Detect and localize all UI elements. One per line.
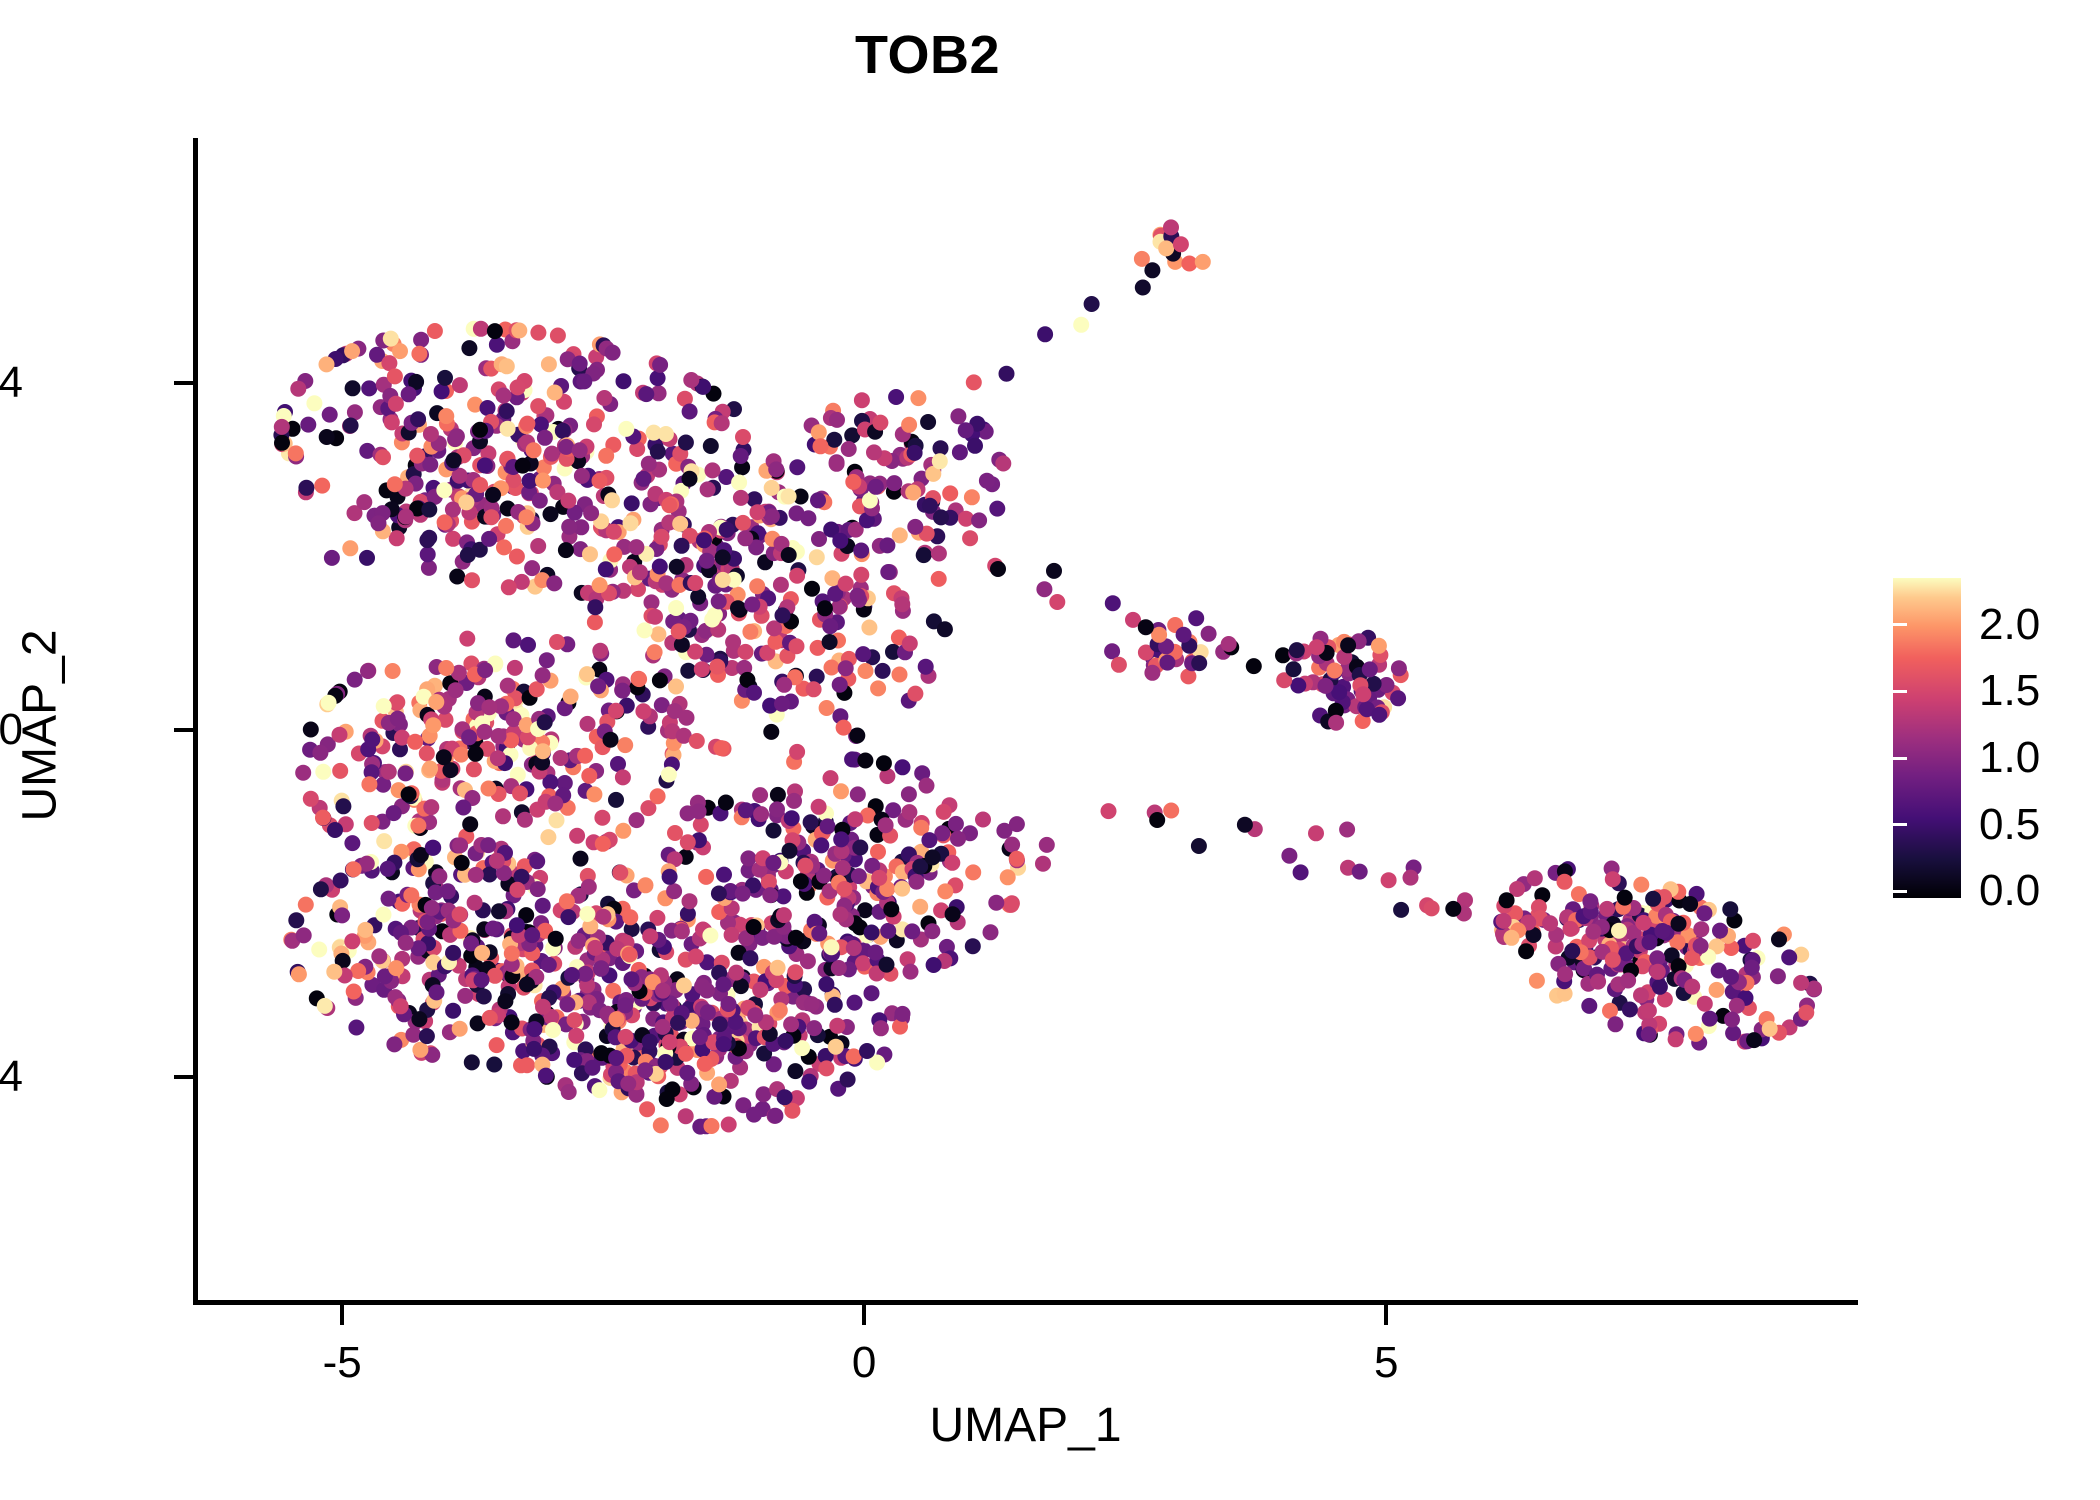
scatter-point <box>1188 610 1204 626</box>
scatter-point <box>1004 837 1020 853</box>
scatter-point <box>519 416 535 432</box>
scatter-point <box>580 716 596 732</box>
scatter-point <box>622 947 638 963</box>
scatter-point <box>862 493 878 509</box>
scatter-point <box>1391 660 1407 676</box>
scatter-point <box>583 505 599 521</box>
scatter-point <box>932 453 948 469</box>
scatter-point <box>558 439 574 455</box>
scatter-point <box>679 1065 695 1081</box>
scatter-point <box>326 964 342 980</box>
scatter-point <box>1286 661 1302 677</box>
scatter-point <box>1191 655 1207 671</box>
scatter-point <box>690 589 706 605</box>
scatter-point <box>737 530 753 546</box>
scatter-point <box>376 907 392 923</box>
scatter-point <box>359 550 375 566</box>
scatter-point <box>832 677 848 693</box>
scatter-point <box>618 1029 634 1045</box>
scatter-point <box>438 408 454 424</box>
scatter-point <box>1101 803 1117 819</box>
scatter-point <box>1744 960 1760 976</box>
scatter-point <box>364 815 380 831</box>
scatter-point <box>389 530 405 546</box>
scatter-point <box>1352 864 1368 880</box>
scatter-point <box>609 1011 625 1027</box>
scatter-point <box>920 414 936 430</box>
scatter-point <box>606 524 622 540</box>
scatter-point <box>828 1039 844 1055</box>
scatter-point <box>482 867 498 883</box>
scatter-point <box>1504 930 1520 946</box>
scatter-point <box>361 776 377 792</box>
scatter-point <box>836 720 852 736</box>
scatter-point <box>691 803 707 819</box>
scatter-point <box>495 808 511 824</box>
scatter-point <box>474 945 490 961</box>
scatter-point <box>559 996 575 1012</box>
scatter-point <box>380 861 396 877</box>
scatter-point <box>642 1034 658 1050</box>
scatter-point <box>632 564 648 580</box>
scatter-point <box>376 833 392 849</box>
scatter-point <box>907 445 923 461</box>
scatter-point <box>526 1041 542 1057</box>
scatter-point <box>905 485 921 501</box>
scatter-point <box>519 509 535 525</box>
scatter-point <box>1499 892 1515 908</box>
scatter-point <box>346 984 362 1000</box>
scatter-point <box>429 984 445 1000</box>
scatter-point <box>813 837 829 853</box>
scatter-point <box>859 1043 875 1059</box>
scatter-point <box>303 722 319 738</box>
scatter-point <box>662 1034 678 1050</box>
scatter-point <box>642 928 658 944</box>
scatter-point <box>572 442 588 458</box>
scatter-point <box>390 711 406 727</box>
scatter-point <box>445 1003 461 1019</box>
scatter-point <box>385 663 401 679</box>
scatter-point <box>858 663 874 679</box>
scatter-point <box>901 786 917 802</box>
scatter-point <box>638 877 654 893</box>
scatter-point <box>485 921 501 937</box>
scatter-point <box>786 793 802 809</box>
scatter-point <box>1390 690 1406 706</box>
scatter-point <box>504 1014 520 1030</box>
scatter-point <box>519 976 535 992</box>
scatter-point <box>945 906 961 922</box>
scatter-point <box>776 677 792 693</box>
scatter-point <box>558 542 574 558</box>
scatter-point <box>497 993 513 1009</box>
scatter-point <box>509 549 525 565</box>
scatter-point <box>735 515 751 531</box>
scatter-point <box>561 1084 577 1100</box>
scatter-point <box>864 985 880 1001</box>
scatter-point <box>774 696 790 712</box>
scatter-point <box>1712 923 1728 939</box>
scatter-point <box>473 321 489 337</box>
scatter-point <box>405 1027 421 1043</box>
scatter-point <box>541 356 557 372</box>
scatter-point <box>709 659 725 675</box>
scatter-point <box>306 395 322 411</box>
scatter-point <box>853 567 869 583</box>
scatter-point <box>1331 684 1347 700</box>
scatter-point <box>647 644 663 660</box>
scatter-point <box>298 897 314 913</box>
scatter-point <box>894 881 910 897</box>
scatter-point <box>811 799 827 815</box>
scatter-point <box>789 638 805 654</box>
scatter-point <box>592 643 608 659</box>
scatter-point <box>481 699 497 715</box>
scatter-point <box>652 672 668 688</box>
scatter-point <box>1518 943 1534 959</box>
scatter-point <box>445 531 461 547</box>
scatter-point <box>590 678 606 694</box>
scatter-point <box>487 968 503 984</box>
scatter-point <box>577 748 593 764</box>
scatter-point <box>624 495 640 511</box>
scatter-point <box>603 732 619 748</box>
scatter-point <box>452 377 468 393</box>
scatter-point <box>1641 1026 1657 1042</box>
scatter-point <box>1585 924 1601 940</box>
scatter-point <box>687 575 703 591</box>
scatter-point <box>753 806 769 822</box>
scatter-point <box>788 930 804 946</box>
scatter-point <box>721 996 737 1012</box>
scatter-point <box>679 710 695 726</box>
scatter-point <box>1611 923 1627 939</box>
scatter-point <box>746 919 762 935</box>
scatter-point <box>481 531 497 547</box>
scatter-point <box>595 909 611 925</box>
scatter-point <box>1693 921 1709 937</box>
scatter-point <box>517 812 533 828</box>
scatter-point <box>872 415 888 431</box>
scatter-point <box>489 1037 505 1053</box>
scatter-point <box>1654 923 1670 939</box>
scatter-point <box>564 967 580 983</box>
scatter-point <box>477 662 493 678</box>
x-axis-title: UMAP_1 <box>193 1398 1858 1453</box>
scatter-point <box>496 388 512 404</box>
scatter-point <box>903 964 919 980</box>
scatter-point <box>964 489 980 505</box>
scatter-point <box>581 879 597 895</box>
scatter-point <box>344 933 360 949</box>
scatter-point <box>423 426 439 442</box>
scatter-point <box>712 1016 728 1032</box>
scatter-point <box>711 593 727 609</box>
scatter-point <box>990 561 1006 577</box>
scatter-point <box>587 614 603 630</box>
scatter-point <box>464 1054 480 1070</box>
scatter-point <box>682 893 698 909</box>
scatter-point <box>840 1072 856 1088</box>
x-tick-label: -5 <box>272 1338 412 1388</box>
scatter-point <box>647 609 663 625</box>
scatter-point <box>711 1076 727 1092</box>
scatter-point <box>1671 916 1687 932</box>
scatter-point <box>436 749 452 765</box>
scatter-point <box>544 446 560 462</box>
scatter-point <box>773 577 789 593</box>
scatter-point <box>371 948 387 964</box>
scatter-point <box>735 429 751 445</box>
scatter-point <box>423 799 439 815</box>
scatter-point <box>698 869 714 885</box>
scatter-point <box>303 791 319 807</box>
scatter-point <box>345 380 361 396</box>
scatter-point <box>942 485 958 501</box>
scatter-point <box>688 949 704 965</box>
scatter-point <box>1049 594 1065 610</box>
scatter-point <box>682 471 698 487</box>
scatter-point <box>327 822 343 838</box>
scatter-point <box>1729 998 1745 1014</box>
scatter-point <box>1035 856 1051 872</box>
scatter-point <box>620 1076 636 1092</box>
scatter-point <box>711 886 727 902</box>
scatter-point <box>1581 998 1597 1014</box>
scatter-point <box>347 672 363 688</box>
scatter-point <box>592 577 608 593</box>
scatter-point <box>499 403 515 419</box>
scatter-point <box>524 927 540 943</box>
scatter-point <box>966 374 982 390</box>
scatter-point <box>628 539 644 555</box>
scatter-point <box>532 493 548 509</box>
y-tick-mark <box>174 1075 194 1079</box>
scatter-point <box>411 346 427 362</box>
plot-panel <box>196 140 1856 1302</box>
scatter-point <box>965 938 981 954</box>
scatter-point <box>1641 1003 1657 1019</box>
scatter-point <box>1039 837 1055 853</box>
scatter-point <box>1393 902 1409 918</box>
scatter-point <box>847 995 863 1011</box>
scatter-point <box>803 814 819 830</box>
scatter-point <box>1327 663 1343 679</box>
scatter-point <box>747 1007 763 1023</box>
scatter-point <box>746 685 762 701</box>
scatter-point <box>576 373 592 389</box>
scatter-point <box>867 945 883 961</box>
scatter-point <box>936 804 952 820</box>
scatter-point <box>510 379 526 395</box>
scatter-point <box>530 398 546 414</box>
scatter-point <box>666 883 682 899</box>
scatter-point <box>811 424 827 440</box>
scatter-point <box>481 781 497 797</box>
scatter-point <box>413 332 429 348</box>
scatter-point <box>1037 326 1053 342</box>
scatter-point <box>547 385 563 401</box>
scatter-point <box>857 753 873 769</box>
scatter-point <box>364 732 380 748</box>
scatter-point <box>655 983 671 999</box>
scatter-point <box>537 430 553 446</box>
colorbar-tick-label: 2.0 <box>1979 600 2089 650</box>
scatter-point <box>922 498 938 514</box>
scatter-point <box>699 553 715 569</box>
scatter-point <box>386 805 402 821</box>
scatter-point <box>296 927 312 943</box>
scatter-point <box>1371 707 1387 723</box>
scatter-point <box>638 386 654 402</box>
scatter-point <box>811 926 827 942</box>
scatter-point <box>335 798 351 814</box>
scatter-point <box>1564 943 1580 959</box>
scatter-point <box>921 832 937 848</box>
scatter-point <box>1073 317 1089 333</box>
colorbar-tick-mark <box>1893 890 1907 893</box>
scatter-point <box>567 1012 583 1028</box>
scatter-point <box>988 895 1004 911</box>
scatter-point <box>427 323 443 339</box>
scatter-point <box>295 765 311 781</box>
scatter-point <box>324 550 340 566</box>
scatter-point <box>472 477 488 493</box>
scatter-point <box>343 418 359 434</box>
scatter-point <box>313 881 329 897</box>
scatter-point <box>1682 896 1698 912</box>
scatter-point <box>530 881 546 897</box>
scatter-point <box>700 481 716 497</box>
scatter-point <box>975 812 991 828</box>
scatter-point <box>784 810 800 826</box>
scatter-point <box>499 358 515 374</box>
scatter-point <box>1722 901 1738 917</box>
scatter-point <box>749 578 765 594</box>
scatter-point <box>958 422 974 438</box>
scatter-point <box>838 576 854 592</box>
scatter-point <box>548 931 564 947</box>
scatter-point <box>831 960 847 976</box>
scatter-point <box>836 881 852 897</box>
scatter-point <box>1318 678 1334 694</box>
scatter-point <box>678 1108 694 1124</box>
scatter-point <box>1770 968 1786 984</box>
scatter-point <box>537 714 553 730</box>
scatter-point <box>438 660 454 676</box>
colorbar-tick-label: 1.5 <box>1979 666 2089 716</box>
scatter-point <box>477 458 493 474</box>
scatter-point <box>579 906 595 922</box>
scatter-point <box>715 549 731 565</box>
scatter-point <box>742 624 758 640</box>
scatter-point <box>476 989 492 1005</box>
scatter-point <box>892 667 908 683</box>
scatter-point <box>817 600 833 616</box>
scatter-point <box>598 448 614 464</box>
scatter-point <box>776 907 792 923</box>
scatter-point <box>819 700 835 716</box>
scatter-point <box>1163 803 1179 819</box>
scatter-point <box>539 652 555 668</box>
colorbar-tick-label: 0.0 <box>1979 866 2089 916</box>
scatter-point <box>765 855 781 871</box>
scatter-point <box>387 368 403 384</box>
scatter-point <box>314 478 330 494</box>
scatter-point <box>855 955 871 971</box>
scatter-point <box>716 977 732 993</box>
scatter-point <box>519 1057 535 1073</box>
scatter-point <box>1328 715 1344 731</box>
scatter-point <box>1355 686 1371 702</box>
scatter-point <box>1557 874 1573 890</box>
scatter-point <box>582 546 598 562</box>
scatter-point <box>850 786 866 802</box>
scatter-point <box>653 1117 669 1133</box>
scatter-point <box>1697 996 1713 1012</box>
scatter-point <box>1642 934 1658 950</box>
scatter-point <box>468 867 484 883</box>
scatter-point <box>541 957 557 973</box>
scatter-point <box>678 1046 694 1062</box>
scatter-point <box>724 927 740 943</box>
scatter-point <box>924 923 940 939</box>
scatter-point <box>569 828 585 844</box>
scatter-point <box>498 518 514 534</box>
scatter-point <box>1496 913 1512 929</box>
scatter-point <box>730 600 746 616</box>
scatter-point <box>875 663 891 679</box>
scatter-point <box>549 634 565 650</box>
scatter-point <box>1309 639 1325 655</box>
scatter-point <box>744 597 760 613</box>
scatter-point <box>918 659 934 675</box>
scatter-point <box>543 506 559 522</box>
scatter-point <box>1191 838 1207 854</box>
scatter-point <box>886 475 902 491</box>
scatter-point <box>1445 901 1461 917</box>
scatter-point <box>1599 901 1615 917</box>
scatter-point <box>635 703 651 719</box>
scatter-point <box>482 1010 498 1026</box>
scatter-point <box>1195 254 1211 270</box>
scatter-point <box>274 435 290 451</box>
scatter-point <box>1201 626 1217 642</box>
scatter-point <box>452 1021 468 1037</box>
scatter-point <box>719 522 735 538</box>
scatter-point <box>274 419 290 435</box>
scatter-point <box>668 600 684 616</box>
scatter-point <box>501 579 517 595</box>
scatter-point <box>1590 974 1606 990</box>
scatter-point <box>704 1118 720 1134</box>
scatter-point <box>487 323 503 339</box>
scatter-point <box>587 599 603 615</box>
scatter-point <box>1529 973 1545 989</box>
scatter-point <box>631 671 647 687</box>
scatter-point <box>894 596 910 612</box>
scatter-point <box>770 787 786 803</box>
scatter-point <box>1000 869 1016 885</box>
scatter-point <box>775 607 791 623</box>
scatter-point <box>490 750 506 766</box>
scatter-point <box>1633 987 1649 1003</box>
colorbar-tick-mark <box>1893 823 1907 826</box>
scatter-point <box>346 861 362 877</box>
scatter-point <box>756 1086 772 1102</box>
scatter-point <box>401 386 417 402</box>
